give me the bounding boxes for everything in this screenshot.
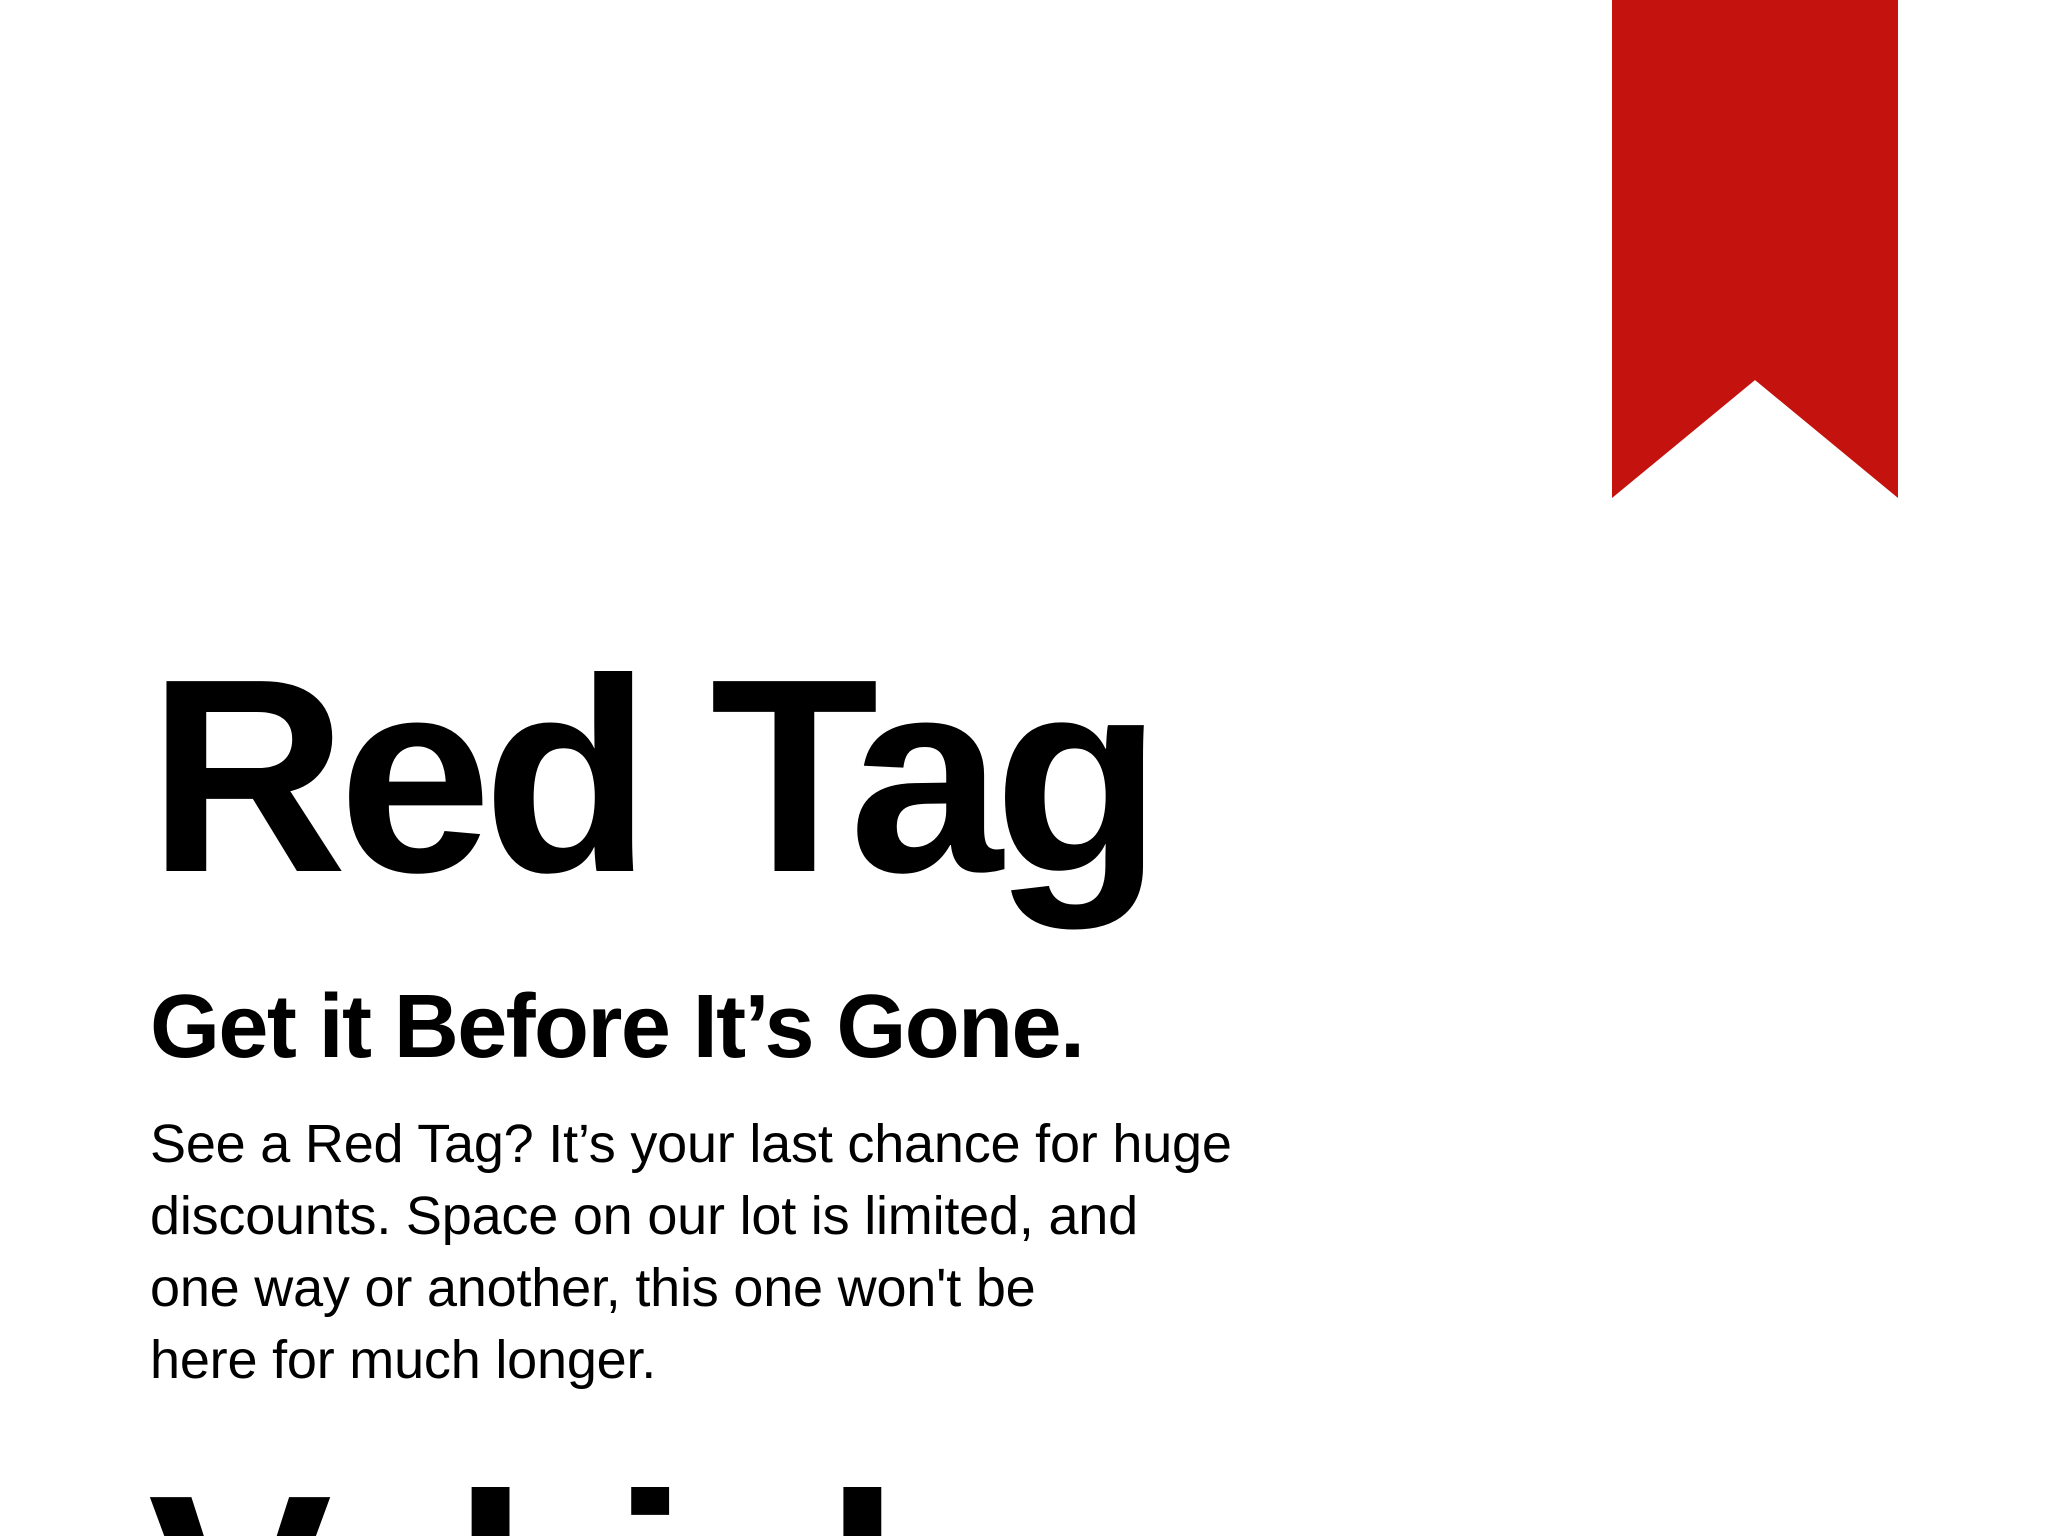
- ribbon-bookmark-icon: [1612, 0, 1898, 498]
- body-paragraph-line-3: one way or another, this one won't be: [150, 1252, 1350, 1324]
- subheading: Get it Before It’s Gone.: [150, 972, 1083, 1082]
- page-title-line-2: Vehicle: [148, 1456, 1448, 1536]
- body-paragraph-line-1: See a Red Tag? It’s your last chance for…: [150, 1108, 1350, 1180]
- body-paragraph-line-2: discounts. Space on our lot is limited, …: [150, 1180, 1350, 1252]
- page-title-line-1: Red Tag: [148, 640, 1448, 912]
- red-tag-vehicle-poster: Red Tag Vehicle Get it Before It’s Gone.…: [0, 0, 2048, 1536]
- body-paragraph: See a Red Tag? It’s your last chance for…: [150, 1108, 1350, 1396]
- body-paragraph-line-4: here for much longer.: [150, 1324, 1350, 1396]
